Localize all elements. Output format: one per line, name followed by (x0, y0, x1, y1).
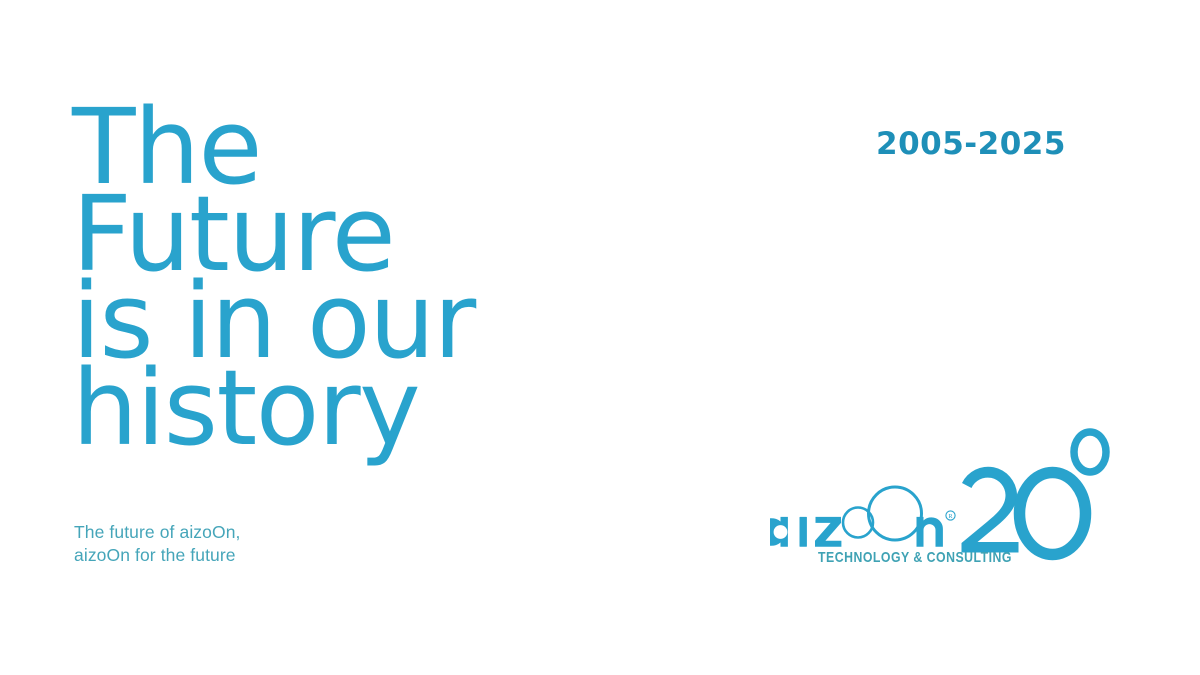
logo-letter-i (800, 517, 807, 547)
logo-letter-a (770, 517, 788, 547)
logo-degree-ring (1074, 432, 1106, 472)
page-title: The Future is in our history (72, 104, 632, 452)
headline-line-4: history (72, 365, 632, 452)
subtitle-line-1: The future of aizoOn, (74, 521, 241, 544)
slide-canvas: The Future is in our history The future … (0, 0, 1200, 675)
logo-tagline: TECHNOLOGY & CONSULTING (796, 549, 1034, 566)
anniversary-years: 2005-2025 (876, 126, 1066, 162)
logo-letter-z (815, 517, 841, 547)
logo-letter-n (917, 517, 943, 547)
logo-number-zero (1020, 473, 1086, 555)
logo-registered-icon: R (946, 511, 955, 520)
logo-circle-large-o (869, 487, 922, 540)
page-subtitle: The future of aizoOn, aizoOn for the fut… (74, 521, 241, 567)
subtitle-line-2: aizoOn for the future (74, 544, 241, 567)
logo-number-two (962, 467, 1019, 553)
